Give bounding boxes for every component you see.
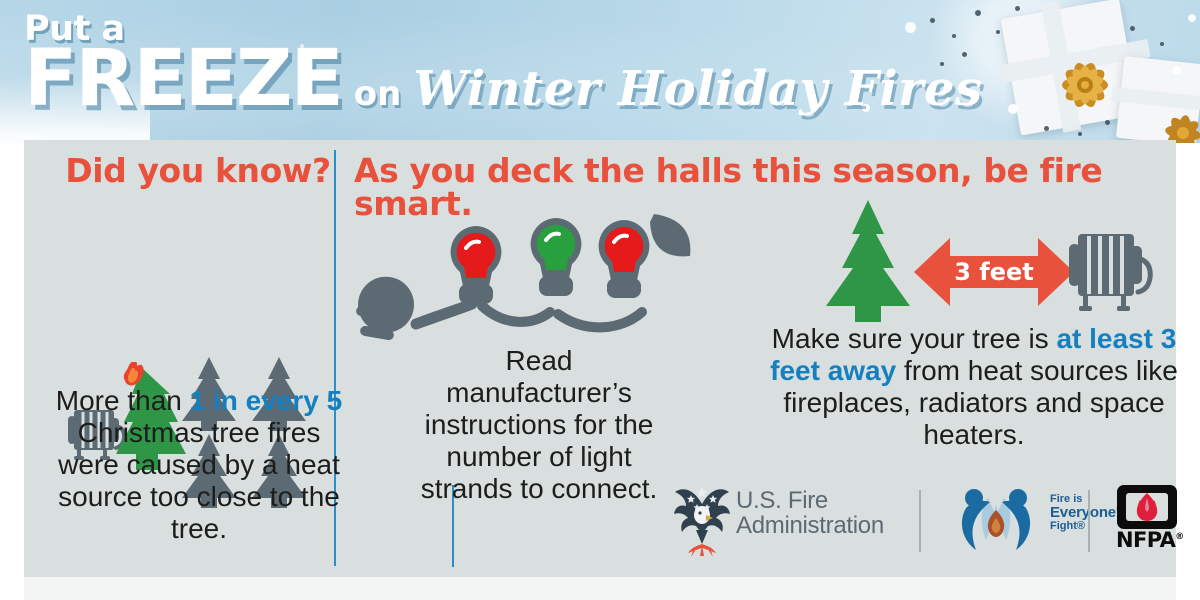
nfpa-wordmark: NFPA® [1116, 528, 1184, 552]
stat-part-0: More than [56, 385, 190, 416]
footer-strip [24, 577, 1176, 600]
stat-part-2: Christmas tree fires were caused by a he… [58, 417, 340, 544]
infographic-root: Put a FREEZE on Winter Holiday Fires Did… [0, 0, 1200, 600]
logo-bar: U.S. Fire Administration [664, 478, 1176, 564]
three-feet-label: 3 feet [914, 258, 1074, 286]
right-column-body-text: Make sure your tree is at least 3 feet a… [759, 323, 1189, 451]
gold-bow-icon [1040, 42, 1130, 133]
three-feet-badge-text: 3 feet [954, 258, 1034, 286]
header-banner: Put a FREEZE on Winter Holiday Fires [0, 0, 1200, 143]
logo-nfpa: NFPA® [1116, 484, 1178, 543]
header-script-text: Winter Holiday Fires [413, 61, 982, 117]
right-part-0: Make sure your tree is [772, 323, 1057, 354]
two-people-flame-icon [950, 484, 1042, 559]
header-word-on: on [354, 74, 402, 114]
header-word-freeze: FREEZE [24, 42, 342, 116]
left-column-stat-text: More than 1 in every 5 Christmas tree fi… [54, 385, 344, 545]
stat-part-1: 1 in every 5 [190, 385, 343, 416]
logo-separator-1 [919, 490, 921, 552]
usfa-line-2: Administration [736, 514, 884, 539]
string-lights-icon [354, 208, 694, 353]
middle-column-body-text: Read manufacturer’s instructions for the… [414, 345, 664, 505]
nfpa-label: NFPA [1116, 528, 1175, 552]
radiator-icon-right [1064, 228, 1154, 323]
usfa-line-1: U.S. Fire [736, 489, 884, 514]
eagle-icon [670, 482, 734, 563]
usfa-wordmark: U.S. Fire Administration [736, 489, 884, 539]
header-title-block: Put a FREEZE on Winter Holiday Fires [24, 12, 983, 117]
nfpa-registered-mark: ® [1175, 532, 1183, 542]
content-panel: Did you know? [24, 140, 1176, 577]
green-tree-icon [816, 198, 920, 329]
logo-separator-2 [1088, 490, 1090, 552]
gold-bow-icon-2 [1148, 100, 1200, 143]
left-column-heading: Did you know? [62, 154, 334, 187]
